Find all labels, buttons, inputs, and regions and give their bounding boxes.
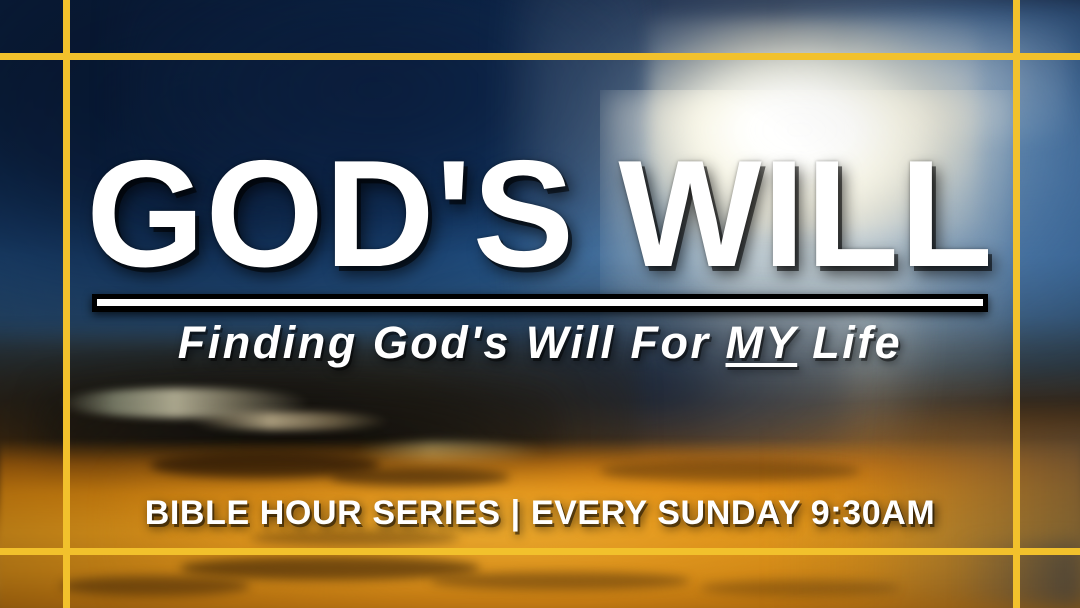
gold-frame-line-bottom [0, 548, 1080, 555]
subtitle-emphasis-my: MY [726, 317, 798, 368]
sermon-series-poster: GOD'S WILL Finding God's Will For MY Lif… [0, 0, 1080, 608]
subtitle-part-before: Finding God's Will For [178, 317, 726, 368]
divider-fill [97, 299, 983, 306]
title-divider [92, 294, 988, 312]
divider-outline [92, 294, 988, 312]
series-schedule-text: BIBLE HOUR SERIES | EVERY SUNDAY 9:30AM [0, 494, 1080, 533]
page-title: GOD'S WILL [0, 138, 1080, 290]
subtitle-block: Finding God's Will For MY Life [0, 318, 1080, 368]
gold-frame-line-top [0, 53, 1080, 60]
subtitle-part-after: Life [797, 317, 902, 368]
subtitle: Finding God's Will For MY Life [178, 318, 902, 368]
title-block: GOD'S WILL [0, 138, 1080, 290]
footer-block: BIBLE HOUR SERIES | EVERY SUNDAY 9:30AM [0, 494, 1080, 533]
